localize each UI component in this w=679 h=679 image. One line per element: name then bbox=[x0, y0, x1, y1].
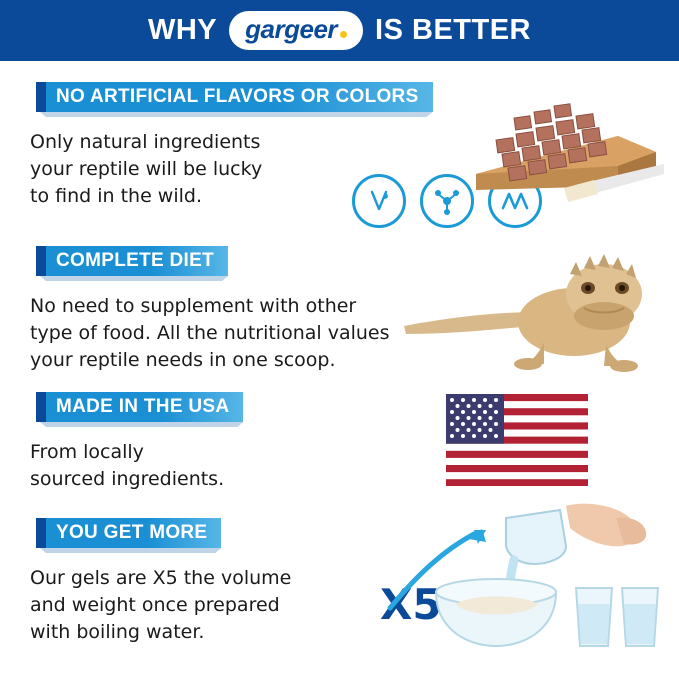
band-shadow bbox=[40, 548, 221, 553]
bearded-dragon-image bbox=[398, 230, 664, 382]
band-cap-icon bbox=[36, 518, 46, 548]
bowl-water-image bbox=[370, 500, 670, 650]
food-cubes-image bbox=[468, 78, 664, 224]
band-cap-icon bbox=[36, 392, 46, 422]
brand-logo: gargeer bbox=[229, 11, 363, 50]
brand-dot-icon bbox=[340, 31, 347, 38]
band-shadow bbox=[40, 422, 243, 427]
band-cap-icon bbox=[36, 82, 46, 112]
band-cap-icon bbox=[36, 246, 46, 276]
section-3-body: From locally sourced ingredients. bbox=[30, 439, 450, 493]
section-4-band: YOU GET MORE bbox=[36, 518, 221, 548]
molecule-icon bbox=[420, 174, 474, 228]
section-2-title: COMPLETE DIET bbox=[56, 250, 214, 272]
header-suffix: IS BETTER bbox=[375, 14, 531, 47]
brand-name: gargeer bbox=[245, 14, 337, 45]
section-2-band: COMPLETE DIET bbox=[36, 246, 228, 276]
band-shadow bbox=[40, 276, 228, 281]
section-1-title: NO ARTIFICIAL FLAVORS OR COLORS bbox=[56, 86, 419, 108]
section-4-title: YOU GET MORE bbox=[56, 522, 207, 544]
header-inner: WHY gargeer IS BETTER bbox=[148, 11, 531, 50]
section-2-body: No need to supplement with other type of… bbox=[30, 293, 410, 374]
band-shadow bbox=[40, 112, 433, 117]
page-header: WHY gargeer IS BETTER bbox=[0, 0, 679, 61]
usa-flag-image bbox=[446, 394, 588, 486]
section-1-band: NO ARTIFICIAL FLAVORS OR COLORS bbox=[36, 82, 433, 112]
vegan-leaf-icon bbox=[352, 174, 406, 228]
section-3-band: MADE IN THE USA bbox=[36, 392, 243, 422]
section-3-title: MADE IN THE USA bbox=[56, 396, 229, 418]
header-prefix: WHY bbox=[148, 14, 217, 47]
